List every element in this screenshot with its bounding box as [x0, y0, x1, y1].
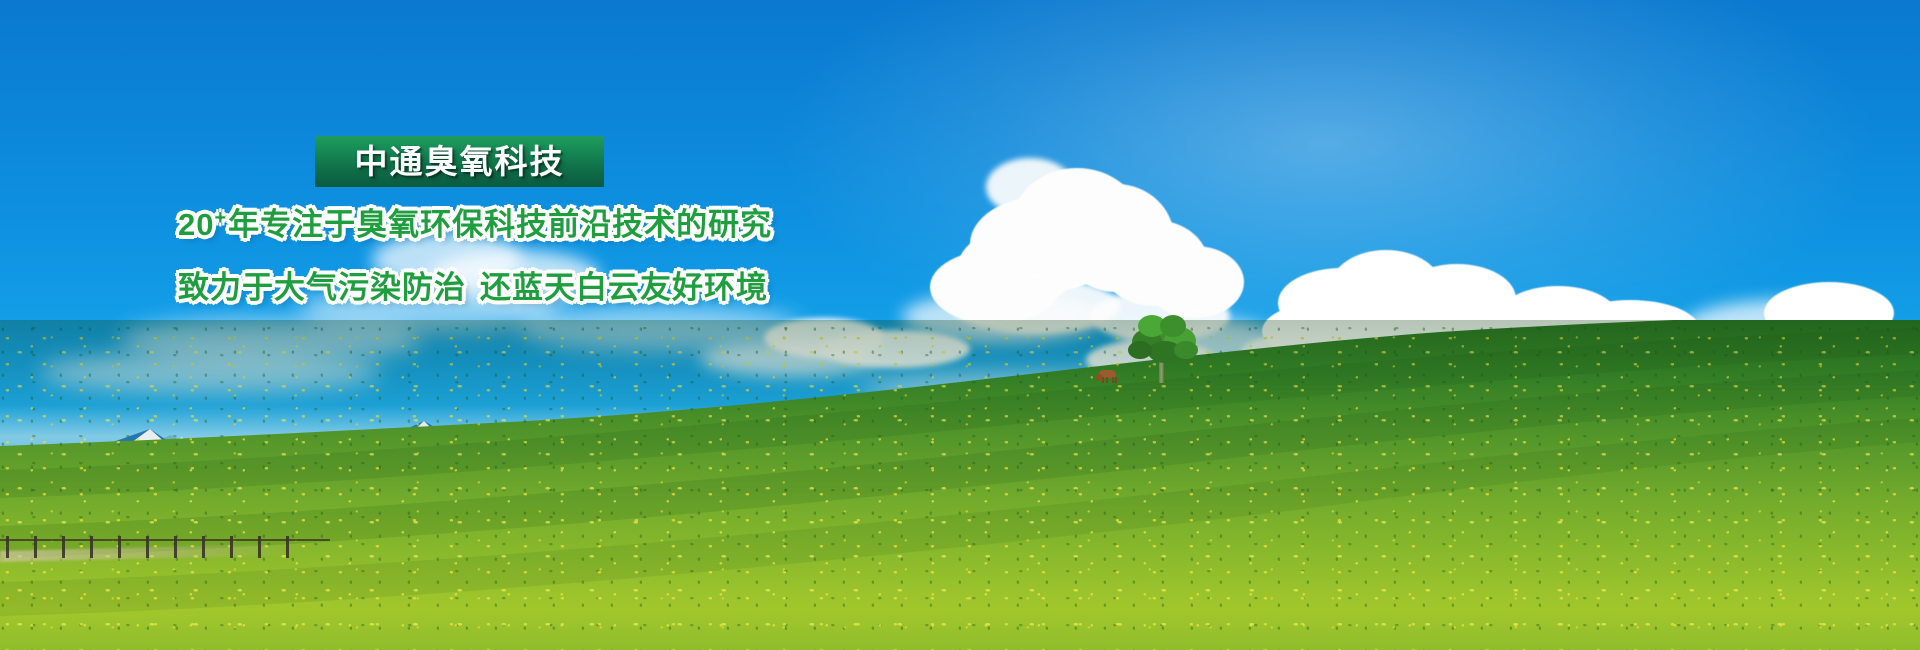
tagline-years-number: 20	[178, 207, 214, 242]
grass-shading	[0, 320, 1920, 650]
lone-tree	[1126, 315, 1200, 383]
tagline-mission-part-b: 还蓝天白云友好环境	[480, 270, 768, 305]
meadow	[0, 320, 1920, 650]
tagline-years-rest: 年专注于臭氧环保科技前沿技术的研究	[228, 207, 772, 242]
fence-rail	[0, 539, 330, 541]
hero-banner: 中通臭氧科技 20+年专注于臭氧环保科技前沿技术的研究 致力于大气污染防治还蓝天…	[0, 0, 1920, 650]
grazing-horse	[1096, 370, 1120, 384]
wire-fence	[0, 524, 330, 558]
tagline-years-plus: +	[214, 207, 227, 229]
brand-name: 中通臭氧科技	[355, 145, 565, 178]
tagline-years: 20+年专注于臭氧环保科技前沿技术的研究	[178, 209, 772, 240]
tagline-mission: 致力于大气污染防治还蓝天白云友好环境	[178, 272, 768, 303]
tagline-mission-part-a: 致力于大气污染防治	[178, 270, 466, 305]
brand-plate[interactable]: 中通臭氧科技	[315, 136, 604, 187]
